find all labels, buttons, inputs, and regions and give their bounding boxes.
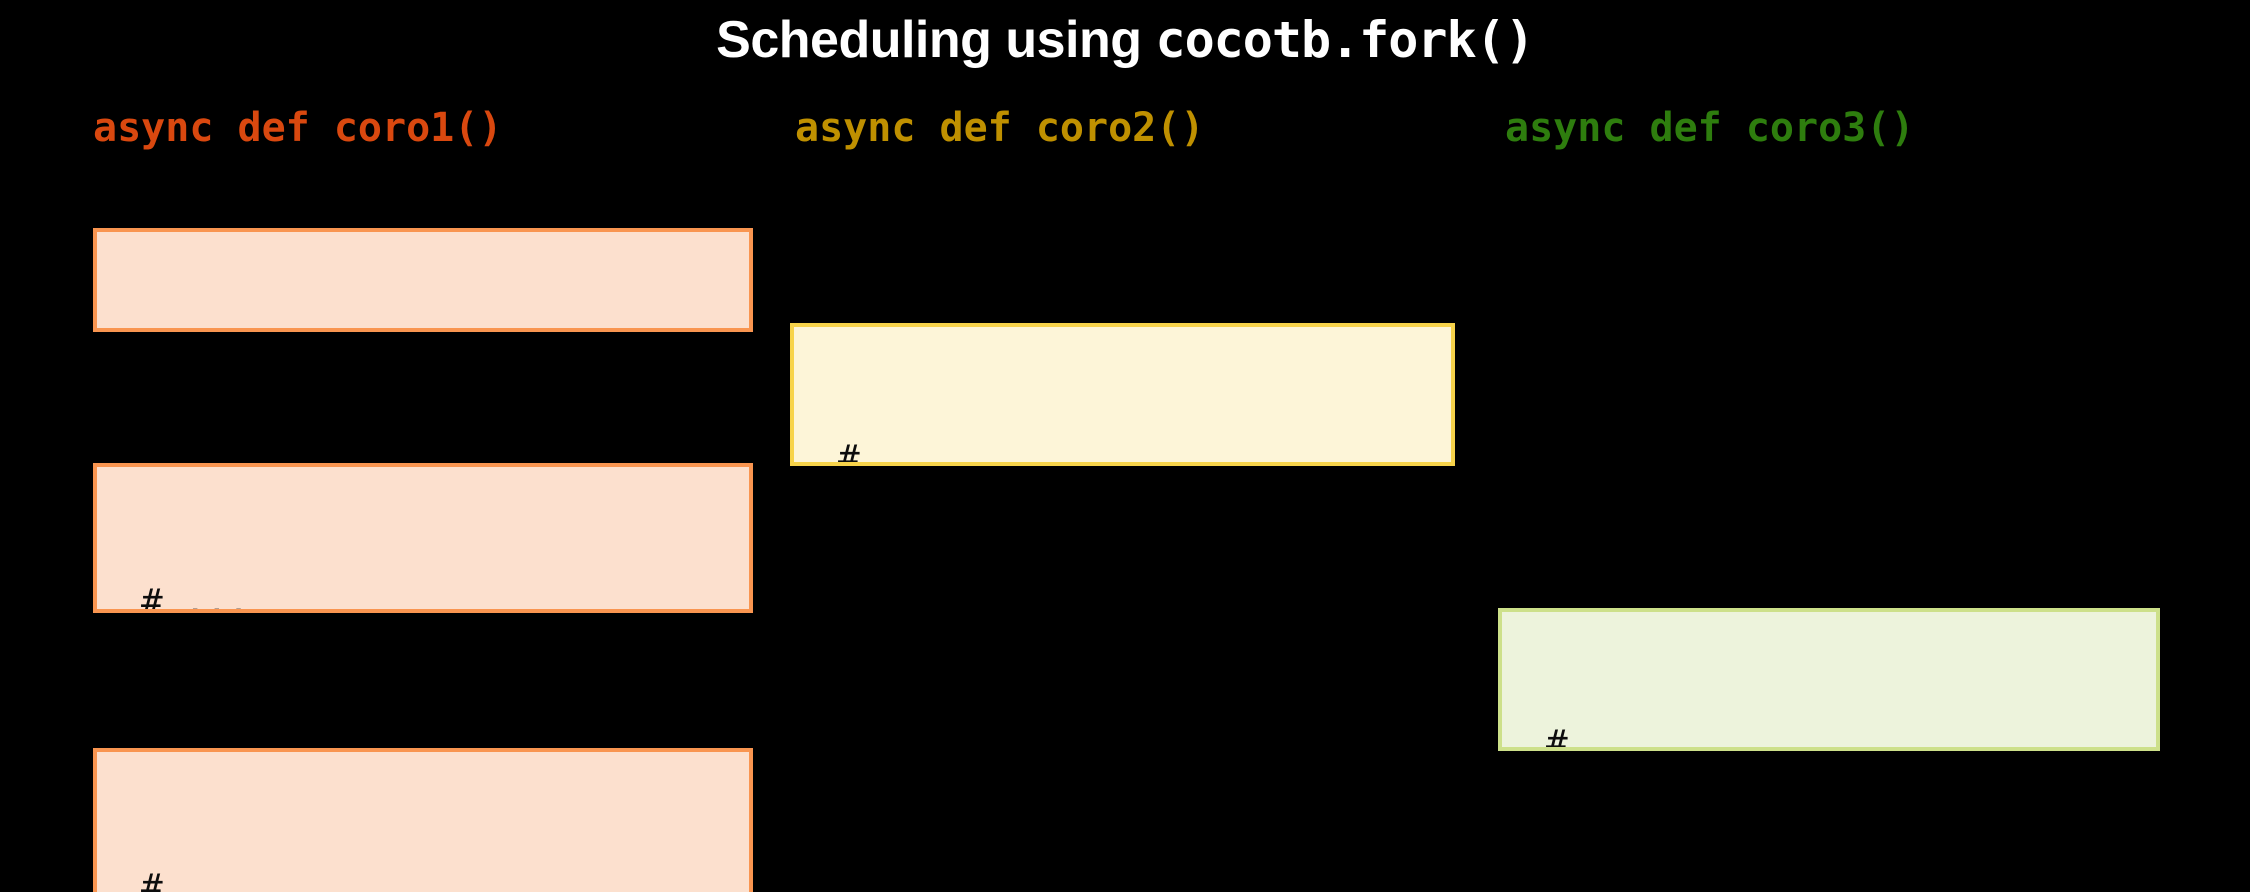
column-header-coro3: async def coro3() — [1505, 108, 1914, 148]
column-header-coro1: async def coro1() — [93, 108, 502, 148]
code-line: # ... — [141, 866, 749, 892]
code-block-coro3-await-1: # ... await Timer(1, units="ns") — [1498, 608, 2160, 751]
page-title-words: Scheduling using — [716, 11, 1155, 69]
code-line: # ... — [1546, 722, 2156, 751]
code-block-coro1-await-1: # ... await Timer(1, units="ns") — [93, 463, 753, 613]
page-title-code: cocotb.fork() — [1155, 11, 1533, 69]
code-line: # ... — [141, 581, 749, 613]
code-block-coro1-await-2: # ... await Timer(1, units="ns") — [93, 748, 753, 892]
slide-canvas: Scheduling using cocotb.fork() async def… — [0, 0, 2250, 892]
code-line: # ... — [838, 437, 1451, 466]
page-title: Scheduling using cocotb.fork() — [0, 14, 2250, 66]
column-header-coro2: async def coro2() — [795, 108, 1204, 148]
code-block-coro2-await-1: # ... await Timer(1, units="ns") — [790, 323, 1455, 466]
code-block-coro1-fork: cocotb.fork(coro2()) — [93, 228, 753, 332]
